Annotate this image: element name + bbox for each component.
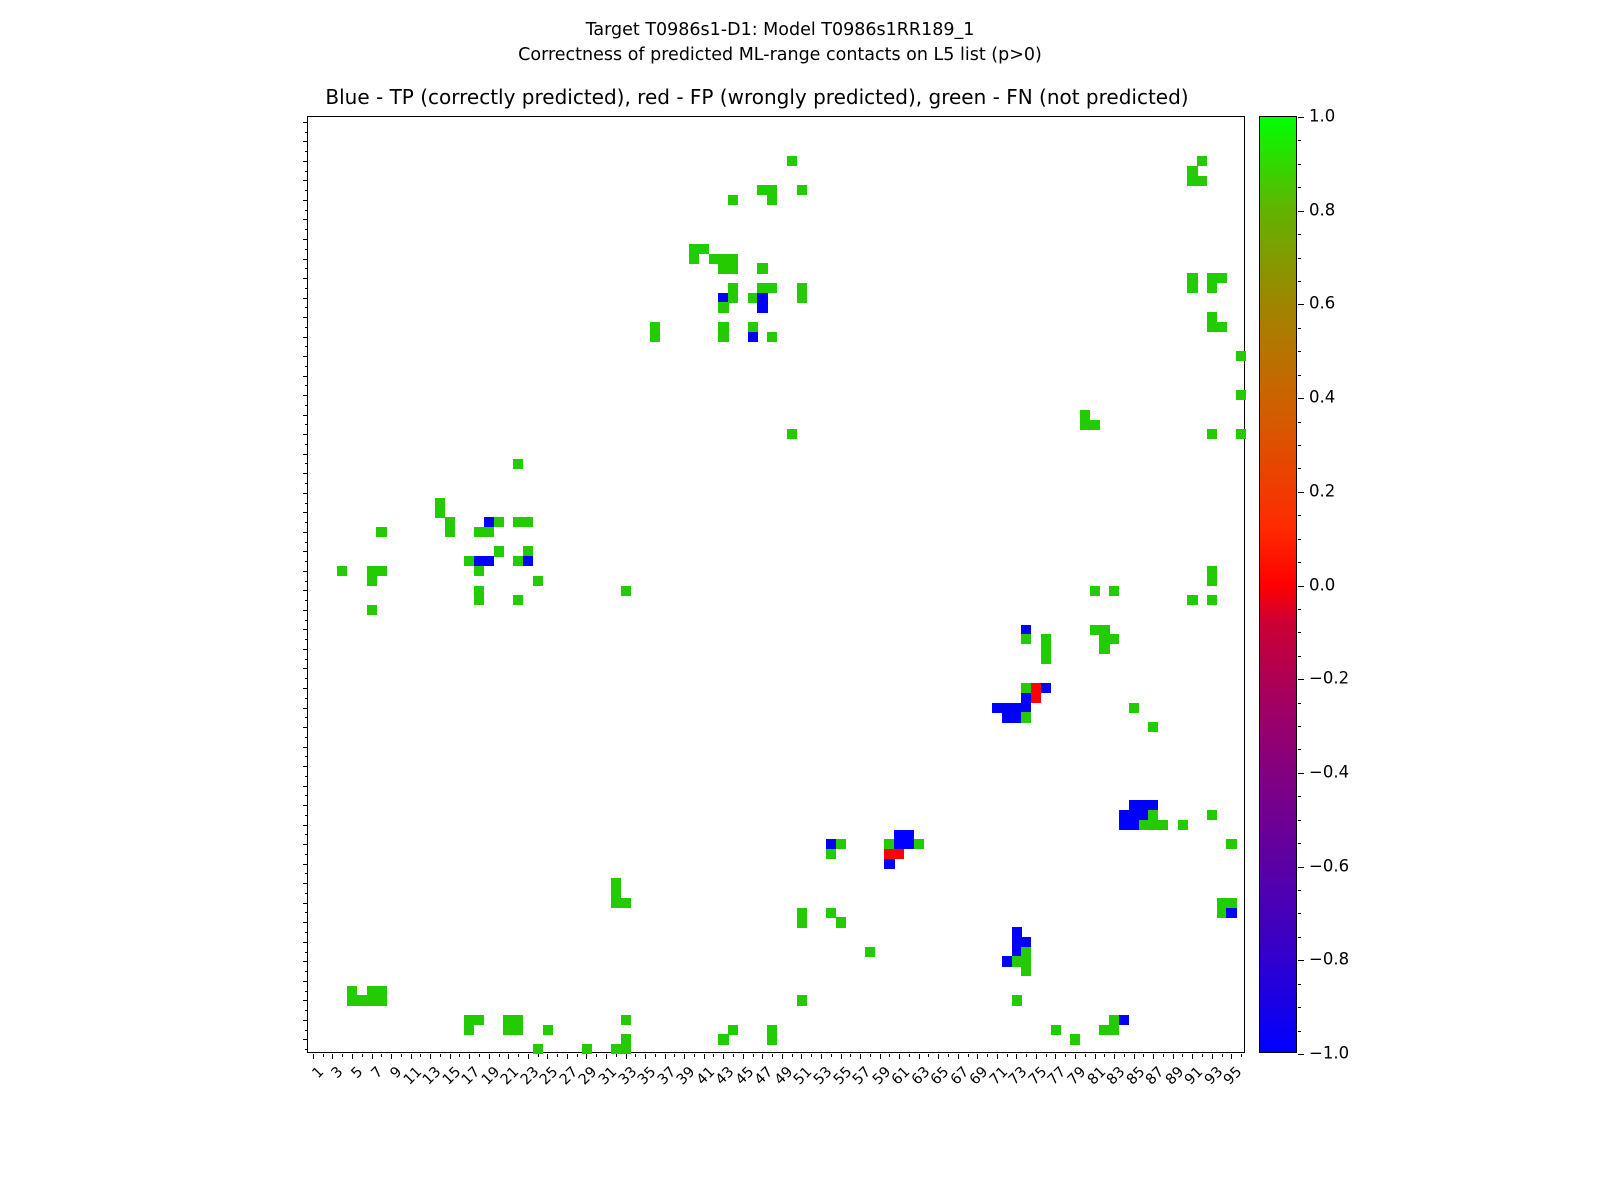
contact-cell [1207, 595, 1217, 605]
x-axis-tick [704, 1054, 705, 1059]
contact-cell [904, 830, 914, 840]
contact-cell [1207, 566, 1217, 576]
colorbar-tick-label: 0.2 [1309, 481, 1335, 500]
contact-cell [1187, 273, 1197, 283]
contact-cell [435, 507, 445, 517]
contact-cell [621, 586, 631, 596]
contact-cell [1090, 586, 1100, 596]
colorbar-tick [1298, 867, 1304, 868]
colorbar-minor-tick [1298, 140, 1301, 141]
contact-cell [621, 1034, 631, 1044]
colorbar-minor-tick [1298, 468, 1301, 469]
x-axis-labels: 1357911131517192123252729313335373941434… [307, 1064, 1245, 1134]
contact-cell [757, 302, 767, 312]
contact-cell [621, 1015, 631, 1025]
contact-cell [1148, 722, 1158, 732]
contact-cell [826, 839, 836, 849]
x-axis-tick [635, 1054, 636, 1057]
contact-cell [1217, 898, 1227, 908]
x-axis-tick [1016, 1054, 1017, 1059]
x-axis-tick [489, 1054, 490, 1059]
x-axis-tick [674, 1054, 675, 1057]
x-axis-tick [665, 1054, 666, 1059]
colorbar-minor-tick [1298, 843, 1301, 844]
x-axis-tick [1055, 1054, 1056, 1059]
contact-cell [1207, 810, 1217, 820]
contact-cell [1109, 586, 1119, 596]
contact-cell [474, 595, 484, 605]
contact-cell [1207, 273, 1217, 283]
x-axis-tick [733, 1054, 734, 1057]
contact-cell [1099, 634, 1109, 644]
contact-cell [484, 556, 494, 566]
contact-cell [376, 995, 386, 1005]
contact-cell [1119, 820, 1129, 830]
x-axis-tick [870, 1054, 871, 1057]
x-axis-tick [743, 1054, 744, 1059]
contact-cell [1021, 693, 1031, 703]
contact-cell [826, 849, 836, 859]
x-axis-tick [850, 1054, 851, 1057]
contact-cell [533, 576, 543, 586]
colorbar-tick [1298, 960, 1304, 961]
axes-title: Blue - TP (correctly predicted), red - F… [0, 85, 1514, 109]
colorbar-minor-tick [1298, 609, 1301, 610]
x-axis-tick [469, 1054, 470, 1059]
colorbar-tick [1298, 117, 1304, 118]
contact-cell [797, 283, 807, 293]
x-axis-tick [528, 1054, 529, 1059]
contact-cell [1021, 966, 1031, 976]
colorbar-tick-label: −0.2 [1309, 669, 1349, 688]
x-axis-tick [596, 1054, 597, 1057]
contact-cell [826, 908, 836, 918]
x-axis-tick [1241, 1054, 1242, 1057]
contact-cell [1197, 176, 1207, 186]
contact-cell [757, 185, 767, 195]
contact-cell [718, 263, 728, 273]
contact-cell [757, 263, 767, 273]
contact-cell [523, 546, 533, 556]
x-axis-tick [1075, 1054, 1076, 1059]
contact-cell [1002, 703, 1012, 713]
x-axis-tick [713, 1054, 714, 1057]
x-axis-tick [1182, 1054, 1183, 1057]
x-axis-tick [479, 1054, 480, 1057]
contact-cell [767, 332, 777, 342]
contact-cell [474, 1015, 484, 1025]
contact-cell [1012, 927, 1022, 937]
colorbar-tick-label: 0.8 [1309, 200, 1335, 219]
contact-cell [1187, 283, 1197, 293]
contact-cell [757, 293, 767, 303]
contact-cell [1129, 703, 1139, 713]
contact-cell [1226, 908, 1236, 918]
x-axis-tick [1114, 1054, 1115, 1059]
contact-cell [718, 332, 728, 342]
contact-cell [650, 322, 660, 332]
contact-cell [1236, 390, 1246, 400]
contact-cell [865, 947, 875, 957]
contact-cell [1012, 947, 1022, 957]
x-axis-tick [841, 1054, 842, 1059]
contact-cell [1129, 810, 1139, 820]
colorbar-tick [1298, 304, 1304, 305]
x-axis-tick [577, 1054, 578, 1057]
contact-cell [513, 1015, 523, 1025]
contact-cell [1021, 625, 1031, 635]
colorbar-minor-tick [1298, 890, 1301, 891]
contact-cell [787, 429, 797, 439]
x-axis-tick [1222, 1054, 1223, 1057]
x-axis-tick [323, 1054, 324, 1057]
contact-cell [689, 254, 699, 264]
contact-cell [1012, 937, 1022, 947]
contact-cell [1217, 322, 1227, 332]
x-axis-tick [1231, 1054, 1232, 1059]
colorbar-minor-tick [1298, 539, 1301, 540]
x-axis-tick [772, 1054, 773, 1057]
x-axis-tick [987, 1054, 988, 1057]
contact-cell [1051, 1025, 1061, 1035]
contact-cell [1187, 176, 1197, 186]
x-axis-tick [1095, 1054, 1096, 1059]
colorbar-minor-tick [1298, 937, 1301, 938]
x-axis-tick [684, 1054, 685, 1059]
contact-cell [718, 322, 728, 332]
colorbar-tick [1298, 211, 1304, 212]
x-axis-tick [928, 1054, 929, 1057]
colorbar-minor-tick [1298, 328, 1301, 329]
contact-cell [1207, 576, 1217, 586]
contact-cell [767, 195, 777, 205]
x-axis-tick [723, 1054, 724, 1059]
contact-cell [474, 556, 484, 566]
colorbar-minor-tick [1298, 515, 1301, 516]
x-axis-tick [821, 1054, 822, 1059]
contact-cell [1099, 625, 1109, 635]
contact-cell [1021, 937, 1031, 947]
contact-cell [728, 283, 738, 293]
x-axis-tick [694, 1054, 695, 1057]
x-axis-tick [547, 1054, 548, 1059]
x-axis-tick [499, 1054, 500, 1057]
x-axis-tick [811, 1054, 812, 1057]
contact-cell [367, 566, 377, 576]
x-axis-tick [313, 1054, 314, 1059]
colorbar-minor-tick [1298, 656, 1301, 657]
colorbar-minor-tick [1298, 164, 1301, 165]
contact-cell [474, 566, 484, 576]
colorbar-tick-label: 0.6 [1309, 294, 1335, 313]
contact-cell [718, 302, 728, 312]
contact-cell [1109, 634, 1119, 644]
contact-cell [1041, 644, 1051, 654]
contact-cell [513, 595, 523, 605]
x-axis-tick [889, 1054, 890, 1057]
contact-cell [1090, 625, 1100, 635]
contact-cell [1119, 1015, 1129, 1025]
contact-cell [611, 888, 621, 898]
figure-suptitle: Target T0986s1-D1: Model T0986s1RR189_1 … [0, 18, 1560, 68]
contact-cell [1041, 654, 1051, 664]
x-axis-tick [860, 1054, 861, 1059]
contact-cell [464, 1015, 474, 1025]
contact-cell [1041, 634, 1051, 644]
contact-cell [728, 195, 738, 205]
colorbar-tick [1298, 679, 1304, 680]
x-axis-tick [342, 1054, 343, 1057]
contact-cell [1021, 956, 1031, 966]
contact-map-axes[interactable] [307, 116, 1245, 1053]
contact-cell [1080, 420, 1090, 430]
x-axis-tick [899, 1054, 900, 1059]
contact-cell [474, 527, 484, 537]
contact-cell [494, 546, 504, 556]
contact-cell [376, 566, 386, 576]
colorbar-minor-tick [1298, 796, 1301, 797]
contact-cell [836, 917, 846, 927]
contact-cell [367, 986, 377, 996]
colorbar-minor-tick [1298, 632, 1301, 633]
contact-cell [1099, 1025, 1109, 1035]
x-axis-tick [753, 1054, 754, 1057]
contact-cell [1148, 800, 1158, 810]
contact-cell [1207, 322, 1217, 332]
contact-cell [1021, 947, 1031, 957]
x-axis-tick [352, 1054, 353, 1059]
x-axis-tick [792, 1054, 793, 1057]
contact-cell [376, 986, 386, 996]
contact-cell [464, 1025, 474, 1035]
contact-cell [1197, 156, 1207, 166]
contact-cell [1031, 683, 1041, 693]
contact-cell [376, 527, 386, 537]
colorbar-minor-tick [1298, 351, 1301, 352]
colorbar-minor-tick [1298, 234, 1301, 235]
contact-cell [1090, 420, 1100, 430]
contact-cell [767, 185, 777, 195]
contact-map-cells [308, 117, 1244, 1052]
contact-cell [464, 556, 474, 566]
colorbar-minor-tick [1298, 749, 1301, 750]
y-axis-labels: 1357911131517192123252729313335373941434… [0, 116, 307, 1053]
x-axis-tick [518, 1054, 519, 1057]
x-axis-tick [1134, 1054, 1135, 1059]
contact-cell [445, 527, 455, 537]
x-axis-tick [567, 1054, 568, 1059]
contact-cell [494, 517, 504, 527]
contact-cell [1226, 839, 1236, 849]
colorbar[interactable] [1259, 116, 1297, 1053]
contact-cell [767, 1025, 777, 1035]
contact-cell [748, 322, 758, 332]
colorbar-minor-tick [1298, 913, 1301, 914]
contact-cell [797, 185, 807, 195]
colorbar-minor-tick [1298, 492, 1301, 493]
colorbar-minor-tick [1298, 1031, 1301, 1032]
x-axis-tick [1173, 1054, 1174, 1059]
contact-cell [884, 849, 894, 859]
colorbar-minor-tick [1298, 984, 1301, 985]
contact-cell [894, 849, 904, 859]
x-axis-tick [538, 1054, 539, 1057]
contact-cell [1012, 712, 1022, 722]
contact-cell [611, 1044, 621, 1054]
contact-cell [1139, 800, 1149, 810]
x-axis-tick [831, 1054, 832, 1057]
contact-cell [337, 566, 347, 576]
x-axis-tick [362, 1054, 363, 1057]
x-axis-tick [372, 1054, 373, 1059]
x-axis-tick [450, 1054, 451, 1059]
colorbar-minor-tick [1298, 375, 1301, 376]
contact-cell [748, 332, 758, 342]
contact-cell [1139, 820, 1149, 830]
contact-cell [689, 244, 699, 254]
contact-cell [699, 244, 709, 254]
x-axis-tick [645, 1054, 646, 1059]
contact-cell [1080, 410, 1090, 420]
contact-cell [543, 1025, 553, 1035]
contact-cell [728, 1025, 738, 1035]
colorbar-tick-label: −0.8 [1309, 950, 1349, 969]
x-axis-tick [1104, 1054, 1105, 1057]
colorbar-tick [1298, 586, 1304, 587]
contact-cell [367, 995, 377, 1005]
colorbar-tick-label: 0.0 [1309, 575, 1335, 594]
contact-cell [445, 517, 455, 527]
colorbar-tick-label: 1.0 [1309, 107, 1335, 126]
contact-cell [1012, 956, 1022, 966]
contact-cell [1021, 634, 1031, 644]
contact-cell [1207, 312, 1217, 322]
x-axis-tick [381, 1054, 382, 1057]
x-axis-tick [508, 1054, 509, 1059]
contact-cell [884, 839, 894, 849]
x-axis-tick [801, 1054, 802, 1059]
x-axis-tick [420, 1054, 421, 1057]
x-axis-tick [1143, 1054, 1144, 1057]
colorbar-minor-tick [1298, 187, 1301, 188]
contact-cell [767, 283, 777, 293]
contact-cell [484, 517, 494, 527]
contact-cell [797, 293, 807, 303]
contact-cell [728, 254, 738, 264]
contact-cell [1187, 595, 1197, 605]
contact-cell [1236, 351, 1246, 361]
x-axis-tick [938, 1054, 939, 1059]
contact-cell [797, 995, 807, 1005]
contact-cell [1021, 712, 1031, 722]
x-axis-tick [1202, 1054, 1203, 1057]
x-axis-tick [1124, 1054, 1125, 1057]
contact-cell [1129, 820, 1139, 830]
contact-cell [1207, 429, 1217, 439]
contact-cell [884, 859, 894, 869]
contact-cell [718, 1034, 728, 1044]
x-axis-tick [557, 1054, 558, 1057]
contact-cell [894, 839, 904, 849]
contact-cell [767, 1034, 777, 1044]
x-axis-tick [948, 1054, 949, 1057]
contact-cell [367, 576, 377, 586]
contact-cell [728, 293, 738, 303]
x-axis-tick [430, 1054, 431, 1059]
contact-cell [1012, 703, 1022, 713]
contact-cell [503, 1025, 513, 1035]
contact-cell [611, 898, 621, 908]
x-axis-tick [919, 1054, 920, 1059]
x-axis-tick [459, 1054, 460, 1057]
x-axis-tick [655, 1054, 656, 1057]
contact-cell [513, 1025, 523, 1035]
contact-cell [523, 517, 533, 527]
contact-cell [728, 263, 738, 273]
colorbar-minor-tick [1298, 1007, 1301, 1008]
contact-cell [1099, 644, 1109, 654]
contact-cell [757, 283, 767, 293]
colorbar-minor-tick [1298, 398, 1301, 399]
x-axis-tick [1153, 1054, 1154, 1059]
contact-cell [709, 254, 719, 264]
x-axis-tick [997, 1054, 998, 1059]
x-axis-tick [616, 1054, 617, 1057]
x-axis-tick [909, 1054, 910, 1057]
x-axis-tick [586, 1054, 587, 1059]
contact-cell [1021, 683, 1031, 693]
colorbar-tick [1298, 773, 1304, 774]
contact-cell [347, 986, 357, 996]
contact-cell [1031, 693, 1041, 703]
x-axis-tick [1163, 1054, 1164, 1057]
x-axis-tick [440, 1054, 441, 1057]
contact-cell [894, 830, 904, 840]
contact-cell [836, 839, 846, 849]
x-axis-tick [626, 1054, 627, 1059]
contact-cell [718, 254, 728, 264]
contact-cell [1002, 712, 1012, 722]
x-axis-tick [411, 1054, 412, 1059]
contact-cell [503, 1015, 513, 1025]
contact-cell [1217, 273, 1227, 283]
x-axis-tick [1026, 1054, 1027, 1057]
contact-cell [523, 556, 533, 566]
contact-cell [533, 1044, 543, 1054]
contact-cell [621, 1044, 631, 1054]
contact-cell [367, 605, 377, 615]
contact-cell [1207, 283, 1217, 293]
contact-cell [474, 586, 484, 596]
contact-cell [347, 995, 357, 1005]
x-axis-tick [782, 1054, 783, 1059]
contact-cell [1148, 820, 1158, 830]
contact-cell [1109, 1015, 1119, 1025]
contact-cell [1021, 703, 1031, 713]
x-axis-tick [391, 1054, 392, 1059]
contact-cell [914, 839, 924, 849]
contact-cell [1109, 1025, 1119, 1035]
colorbar-minor-tick [1298, 445, 1301, 446]
contact-cell [1002, 956, 1012, 966]
contact-cell [1158, 820, 1168, 830]
contact-cell [797, 917, 807, 927]
x-axis-tick [1085, 1054, 1086, 1057]
contact-cell [1217, 908, 1227, 918]
contact-cell [484, 527, 494, 537]
contact-cell [621, 898, 631, 908]
contact-cell [611, 878, 621, 888]
